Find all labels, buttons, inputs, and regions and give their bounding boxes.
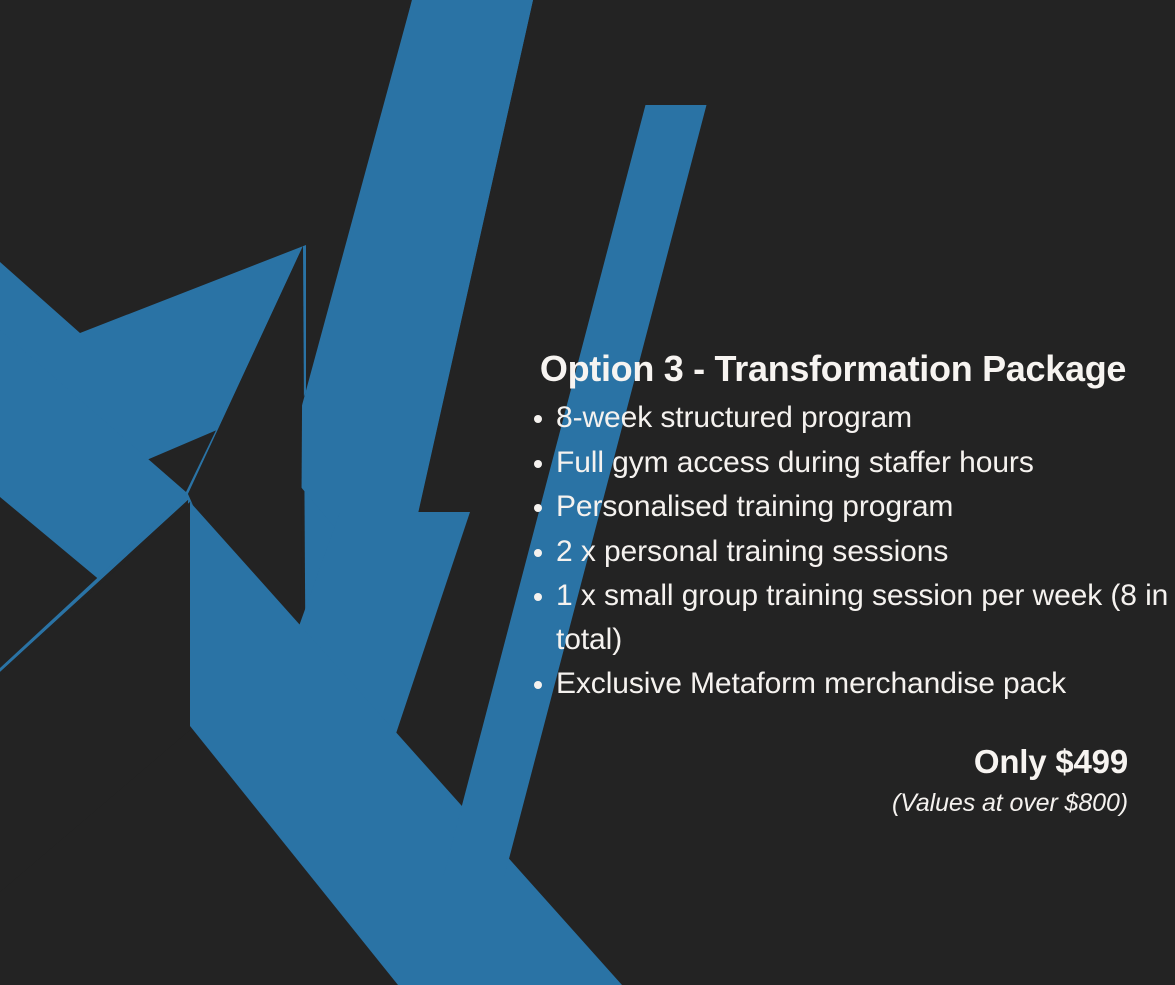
page-title: Option 3 - Transformation Package <box>503 349 1163 389</box>
list-item: Full gym access during staffer hours <box>532 441 1175 485</box>
list-item: Exclusive Metaform merchandise pack <box>532 662 1175 706</box>
price-block: Only $499 (Values at over $800) <box>892 742 1128 818</box>
list-item: Personalised training program <box>532 485 1175 529</box>
benefits-list: 8-week structured program Full gym acces… <box>532 396 1175 707</box>
list-item: 8-week structured program <box>532 396 1175 440</box>
offer-content: Option 3 - Transformation Package 8-week… <box>440 0 1175 985</box>
price-value-note: (Values at over $800) <box>892 788 1128 818</box>
list-item: 2 x personal training sessions <box>532 530 1175 574</box>
promo-poster: Option 3 - Transformation Package 8-week… <box>0 0 1175 985</box>
list-item: 1 x small group training session per wee… <box>532 574 1175 661</box>
price-amount: Only $499 <box>892 742 1128 782</box>
